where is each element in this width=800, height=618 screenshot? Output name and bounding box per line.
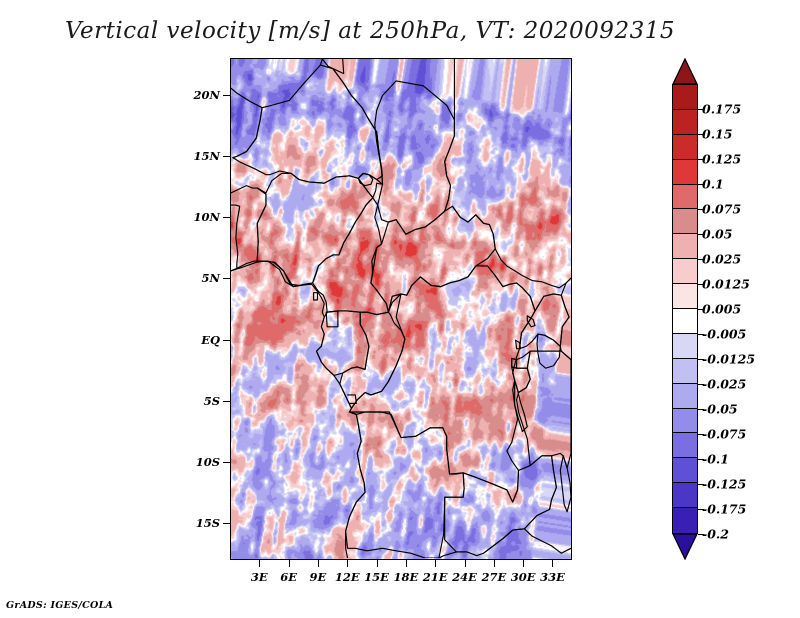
longitude-tick [435,560,436,567]
map-frame [230,58,572,560]
latitude-label: 15N [193,149,220,163]
longitude-tick [406,560,407,567]
colorbar-scale [672,84,698,534]
latitude-tick [223,523,230,524]
longitude-label: 27E [481,570,506,584]
border-line [566,278,571,283]
longitude-label: 18E [393,570,418,584]
border-line [346,412,465,558]
colorbar-cell [673,259,697,284]
colorbar-cell [673,135,697,160]
border-line [560,295,571,360]
border-line [233,65,383,184]
border-line [231,261,309,287]
latitude-label: 15S [196,516,220,530]
colorbar-cell [673,458,697,483]
colorbar-cell [673,110,697,135]
longitude-label: 6E [280,570,297,584]
longitude-tick [552,560,553,567]
longitude-label: 3E [251,570,268,584]
border-line [320,65,382,184]
latitude-tick [223,340,230,341]
border-line [524,529,571,553]
border-line [326,311,338,327]
colorbar-label: 0.1 [702,177,724,192]
border-line [314,293,318,300]
border-line [231,205,240,268]
longitude-label: 21E [423,570,448,584]
grads-attribution: GrADS: IGES/COLA [6,600,113,611]
longitude-tick [289,560,290,567]
border-line [231,186,266,261]
colorbar-cell [673,185,697,210]
longitude-tick [259,560,260,567]
latitude-label: 10N [193,210,220,224]
page-title: Vertical velocity [m/s] at 250hPa, VT: 2… [0,18,740,44]
latitude-label: 5S [204,394,220,408]
colorbar-label: -0.005 [702,327,746,342]
longitude-label: 24E [452,570,477,584]
colorbar-cell [673,309,697,334]
border-line [445,59,455,211]
border-line [350,266,536,502]
longitude-label: 9E [310,570,327,584]
colorbar-label: 0.005 [702,302,741,317]
longitude-tick [523,560,524,567]
border-line [316,311,368,376]
longitude-tick [347,560,348,567]
latitude-tick [223,217,230,218]
colorbar-label: -0.05 [702,402,738,417]
border-line [371,206,495,312]
colorbar-label: -0.125 [702,477,746,492]
latitude-tick [223,278,230,279]
colorbar-label: -0.2 [702,527,729,542]
longitude-tick [377,560,378,567]
colorbar-label: 0.025 [702,252,741,267]
longitude-label: 30E [511,570,536,584]
colorbar-cell [673,209,697,234]
longitude-tick [494,560,495,567]
colorbar-cell [673,483,697,508]
longitude-tick [465,560,466,567]
longitude-label: 15E [364,570,389,584]
colorbar-cell [673,384,697,409]
latitude-tick [223,156,230,157]
colorbar-label: -0.075 [702,427,746,442]
colorbar-cell [673,433,697,458]
colorbar-label: -0.0125 [702,352,755,367]
colorbar-label: 0.175 [702,102,741,117]
colorbar-cell [673,234,697,259]
colorbar-cell [673,359,697,384]
colorbar-cell [673,85,697,110]
latitude-tick [223,401,230,402]
colorbar-label: -0.175 [702,502,746,517]
colorbar-label: 0.0125 [702,277,750,292]
longitude-label: 33E [540,570,565,584]
latitude-label: 10S [196,455,220,469]
longitude-tick [318,560,319,567]
colorbar-label: 0.125 [702,152,741,167]
colorbar-label: 0.075 [702,202,741,217]
colorbar-bottom-arrow [672,533,698,560]
longitude-label: 12E [335,570,360,584]
border-line [257,173,373,286]
colorbar-cell [673,508,697,533]
colorbar-label: -0.1 [702,452,729,467]
map-panel[interactable]: 20N15N10N5NEQ5S10S15S 3E6E9E12E15E18E21E… [230,58,572,560]
border-line [519,294,569,349]
border-line [231,88,262,157]
latitude-label: EQ [201,333,220,347]
colorbar-cell [673,160,697,185]
colorbar-label: -0.025 [702,377,746,392]
border-line [425,552,476,558]
country-borders-overlay [231,59,571,558]
colorbar-label: 0.15 [702,127,732,142]
border-line [320,59,322,65]
colorbar-top-arrow [672,58,698,85]
colorbar-cell [673,409,697,434]
border-line [358,81,454,234]
latitude-tick [223,462,230,463]
latitude-tick [223,95,230,96]
latitude-label: 5N [201,271,220,285]
border-line [231,261,365,558]
latitude-label: 20N [193,88,220,102]
colorbar-cell [673,284,697,309]
colorbar-cell [673,334,697,359]
colorbar-label: 0.05 [702,227,732,242]
colorbar[interactable]: 0.1750.150.1250.10.0750.050.0250.01250.0… [672,58,698,560]
